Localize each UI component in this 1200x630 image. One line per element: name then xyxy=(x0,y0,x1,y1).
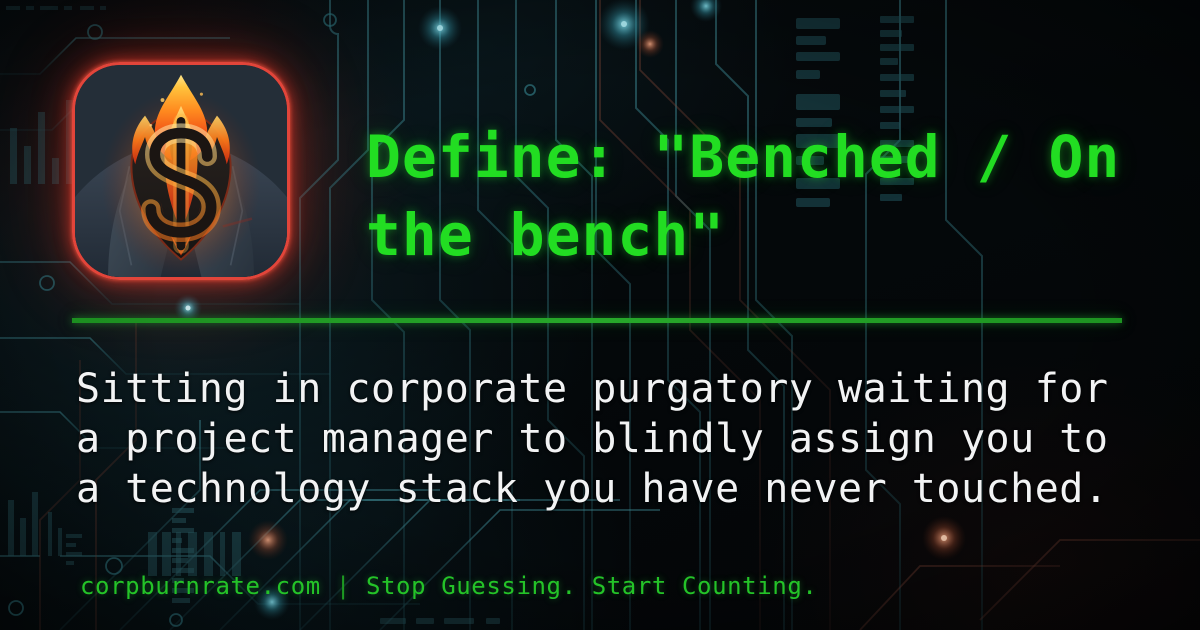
footer-separator: | xyxy=(321,572,366,600)
section-divider xyxy=(72,318,1122,323)
page-title: Define: "Benched / On the bench" xyxy=(366,118,1156,274)
footer-tagline: Stop Guessing. Start Counting. xyxy=(366,572,817,600)
footer: corpburnrate.com | Stop Guessing. Start … xyxy=(80,572,817,600)
card-content: Define: "Benched / On the bench" Sitting… xyxy=(0,0,1200,630)
footer-site-link[interactable]: corpburnrate.com xyxy=(80,572,321,600)
definition-text: Sitting in corporate purgatory waiting f… xyxy=(76,364,1146,514)
burning-dollar-shield-icon xyxy=(75,65,287,277)
share-card: Define: "Benched / On the bench" Sitting… xyxy=(0,0,1200,630)
brand-logo[interactable] xyxy=(72,62,290,280)
